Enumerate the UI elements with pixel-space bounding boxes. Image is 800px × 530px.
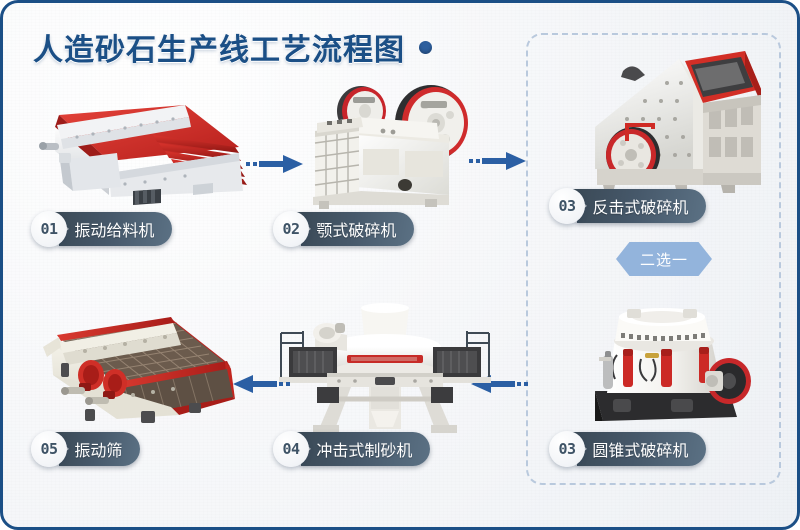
step-label-text-03-impact: 反击式破碎机: [592, 194, 688, 218]
step-label-pill-01: › 振动给料机: [59, 212, 172, 246]
step-label-text-04: 冲击式制砂机: [316, 437, 412, 461]
machine-vsi-sand-maker: [275, 303, 495, 435]
step-number-05: 05: [31, 431, 67, 467]
step-badge-05[interactable]: 05 › 振动筛: [31, 431, 140, 467]
vibrating-feeder-icon: [25, 91, 257, 209]
arrow-jaw-to-crusher: [469, 148, 528, 174]
step-label-pill-04: › 冲击式制砂机: [301, 432, 430, 466]
step-badge-02[interactable]: 02 › 颚式破碎机: [273, 211, 414, 247]
vsi-sand-maker-icon: [275, 303, 495, 435]
step-number-02: 02: [273, 211, 309, 247]
vibrating-screen-icon: [29, 303, 249, 435]
arrow-dots: [279, 382, 290, 386]
bullet-dot-icon: [419, 41, 432, 54]
flow-diagram-canvas: 人造砂石生产线工艺流程图: [0, 0, 800, 530]
machine-vibrating-screen: [29, 303, 249, 435]
step-badge-03-cone[interactable]: 03 › 圆锥式破碎机: [549, 431, 706, 467]
machine-vibrating-feeder: [25, 91, 257, 209]
step-label-pill-05: › 振动筛: [59, 432, 140, 466]
arrow-dots: [246, 162, 257, 166]
step-number-01: 01: [31, 211, 67, 247]
step-number-03-impact: 03: [549, 188, 585, 224]
step-badge-04[interactable]: 04 › 冲击式制砂机: [273, 431, 430, 467]
step-number-03-cone: 03: [549, 431, 585, 467]
impact-crusher-icon: [575, 45, 765, 195]
step-label-pill-03-cone: › 圆锥式破碎机: [577, 432, 706, 466]
step-label-text-02: 颚式破碎机: [316, 217, 396, 241]
step-label-text-05: 振动筛: [74, 437, 122, 461]
machine-impact-crusher: [575, 45, 765, 195]
arrow-dots: [517, 382, 528, 386]
machine-cone-crusher: [579, 295, 759, 435]
page-header: 人造砂石生产线工艺流程图: [33, 25, 432, 69]
arrow-right-icon: [257, 151, 305, 177]
step-badge-03-impact[interactable]: 03 › 反击式破碎机: [549, 188, 706, 224]
cone-crusher-icon: [579, 295, 759, 435]
step-badge-01[interactable]: 01 › 振动给料机: [31, 211, 172, 247]
page-title: 人造砂石生产线工艺流程图: [33, 25, 405, 69]
arrow-dots: [469, 159, 480, 163]
step-label-pill-03-impact: › 反击式破碎机: [577, 189, 706, 223]
jaw-crusher-icon: [305, 65, 487, 213]
step-label-pill-02: › 颚式破碎机: [301, 212, 414, 246]
machine-jaw-crusher: [305, 65, 487, 213]
step-number-04: 04: [273, 431, 309, 467]
choose-one-banner: 二选一: [616, 242, 712, 276]
arrow-feeder-to-jaw: [246, 151, 305, 177]
step-label-text-03-cone: 圆锥式破碎机: [592, 437, 688, 461]
step-label-text-01: 振动给料机: [74, 217, 154, 241]
arrow-right-icon: [480, 148, 528, 174]
